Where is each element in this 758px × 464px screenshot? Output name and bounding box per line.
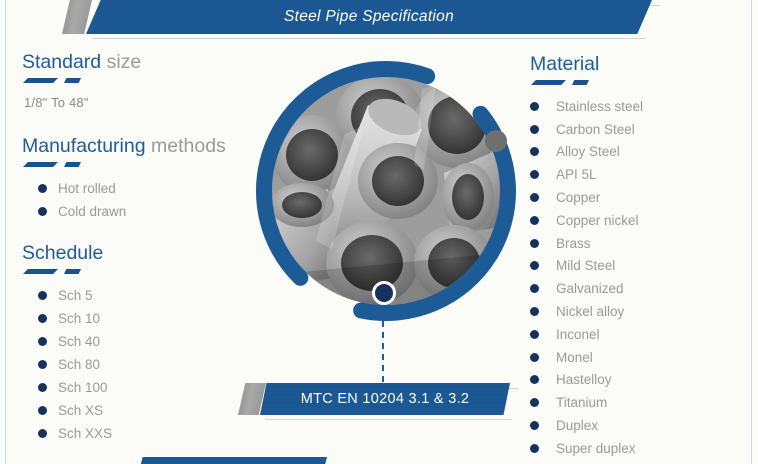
- list-item-label: Mild Steel: [556, 258, 615, 273]
- list-item: Nickel alloy: [530, 300, 745, 323]
- section-schedule: Schedule Sch 5 Sch 10 Sch 40 Sch 80 Sch …: [22, 241, 237, 445]
- list-item: Hastelloy: [530, 369, 745, 392]
- list-item-label: Sch 10: [58, 311, 100, 326]
- bullet-dot: [530, 147, 539, 156]
- list-item-label: Stainless steel: [556, 99, 643, 114]
- standard-size-value: 1/8" To 48": [24, 95, 237, 110]
- list-item: Copper: [530, 186, 745, 209]
- list-item-label: Sch 40: [58, 334, 100, 349]
- list-item: Super duplex: [530, 437, 745, 460]
- list-item: Galvanized: [530, 277, 745, 300]
- heading-underline-dashes: [23, 268, 237, 278]
- list-item-label: Brass: [556, 236, 591, 251]
- bullet-dot: [530, 444, 539, 453]
- list-item: Brass: [530, 232, 745, 255]
- bullet-dot: [530, 216, 539, 225]
- dashed-connector-line: [382, 310, 384, 385]
- list-item: Sch 5: [22, 284, 237, 307]
- mtc-callout-banner: MTC EN 10204 3.1 & 3.2: [238, 383, 520, 415]
- bullet-dot: [38, 291, 47, 300]
- list-item-label: Duplex: [556, 418, 598, 433]
- bullet-dot: [530, 307, 539, 316]
- section-heading: Manufacturing methods: [22, 134, 237, 159]
- bullet-dot: [530, 261, 539, 270]
- section-heading-strong: Material: [530, 53, 599, 75]
- heading-underline-dashes: [23, 161, 237, 171]
- section-heading-soft: size: [101, 51, 141, 73]
- page-rule-right: [751, 0, 752, 464]
- bullet-dot: [530, 353, 539, 362]
- list-item-label: Galvanized: [556, 281, 624, 296]
- list-item-label: Sch XS: [58, 403, 103, 418]
- bullet-dot: [38, 360, 47, 369]
- list-item: Sch 40: [22, 330, 237, 353]
- heading-underline-dashes: [531, 79, 745, 89]
- section-heading: Material: [530, 52, 745, 77]
- page-title: Steel Pipe Specification: [284, 8, 454, 26]
- list-item-label: Sch 100: [58, 380, 108, 395]
- bullet-dot: [530, 102, 539, 111]
- list-item: Duplex: [530, 414, 745, 437]
- list-item: Sch 80: [22, 353, 237, 376]
- list-item-label: Titanium: [556, 395, 607, 410]
- bullet-dot: [530, 330, 539, 339]
- list-item: Cold drawn: [22, 200, 237, 223]
- list-item-label: API 5L: [556, 167, 597, 182]
- list-item: API 5L: [530, 163, 745, 186]
- schedule-list: Sch 5 Sch 10 Sch 40 Sch 80 Sch 100 Sch X…: [22, 284, 237, 445]
- mtc-callout-label: MTC EN 10204 3.1 & 3.2: [301, 391, 470, 407]
- bullet-dot: [38, 337, 47, 346]
- bullet-dot: [530, 239, 539, 248]
- list-item-label: Super duplex: [556, 441, 636, 456]
- section-heading-soft: methods: [146, 135, 226, 157]
- list-item: Sch XS: [22, 399, 237, 422]
- list-item: Hot rolled: [22, 177, 237, 200]
- bottom-banner-partial: [135, 457, 327, 464]
- list-item: Monel: [530, 346, 745, 369]
- bullet-dot: [38, 429, 47, 438]
- list-item-label: Copper: [556, 190, 600, 205]
- list-item: Sch 10: [22, 307, 237, 330]
- bullet-dot: [530, 375, 539, 384]
- steel-pipes-photo: [272, 77, 500, 305]
- bullet-dot: [530, 284, 539, 293]
- section-heading-strong: Standard: [22, 51, 101, 73]
- mtc-banner-body: MTC EN 10204 3.1 & 3.2: [260, 383, 510, 415]
- bullet-dot: [38, 406, 47, 415]
- page-rule-left: [5, 0, 6, 464]
- manufacturing-methods-list: Hot rolled Cold drawn: [22, 177, 237, 223]
- section-manufacturing-methods: Manufacturing methods Hot rolled Cold dr…: [22, 134, 237, 223]
- list-item: Sch 100: [22, 376, 237, 399]
- list-item-label: Hot rolled: [58, 181, 116, 196]
- list-item-label: Sch 80: [58, 357, 100, 372]
- list-item-label: Hastelloy: [556, 372, 612, 387]
- center-graphic: [252, 57, 520, 325]
- bullet-dot: [530, 170, 539, 179]
- section-heading-strong: Manufacturing: [22, 135, 146, 157]
- section-heading-strong: Schedule: [22, 242, 103, 264]
- list-item: Copper nickel: [530, 209, 745, 232]
- bullet-dot: [38, 383, 47, 392]
- list-item: Carbon Steel: [530, 118, 745, 141]
- bullet-dot: [38, 314, 47, 323]
- title-banner: Steel Pipe Specification: [62, 0, 662, 34]
- heading-underline-dashes: [23, 77, 237, 87]
- bullet-dot: [530, 193, 539, 202]
- left-column: Standard size 1/8" To 48" Manufacturing …: [22, 50, 237, 449]
- list-item: Stainless steel: [530, 95, 745, 118]
- title-banner-gray-accent: [62, 0, 92, 34]
- bullet-dot: [38, 184, 47, 193]
- list-item: Inconel: [530, 323, 745, 346]
- bullet-dot: [530, 421, 539, 430]
- section-material: Material Stainless steel Carbon Steel Al…: [530, 52, 745, 460]
- bullet-dot: [38, 207, 47, 216]
- list-item: Alloy Steel: [530, 141, 745, 164]
- list-item: Titanium: [530, 391, 745, 414]
- bullet-dot: [530, 125, 539, 134]
- section-standard-size: Standard size 1/8" To 48": [22, 50, 237, 110]
- list-item-label: Sch 5: [58, 288, 93, 303]
- section-heading: Standard size: [22, 50, 237, 75]
- list-item-label: Nickel alloy: [556, 304, 624, 319]
- list-item: Sch XXS: [22, 422, 237, 445]
- right-column: Material Stainless steel Carbon Steel Al…: [530, 52, 745, 464]
- title-banner-body: Steel Pipe Specification: [86, 0, 652, 34]
- gray-accent-dot: [485, 130, 507, 152]
- list-item-label: Alloy Steel: [556, 144, 620, 159]
- material-list: Stainless steel Carbon Steel Alloy Steel…: [530, 95, 745, 460]
- list-item-label: Monel: [556, 350, 593, 365]
- list-item-label: Sch XXS: [58, 426, 112, 441]
- section-heading: Schedule: [22, 241, 237, 266]
- list-item-label: Copper nickel: [556, 213, 639, 228]
- list-item-label: Inconel: [556, 327, 600, 342]
- navy-anchor-dot: [372, 281, 396, 305]
- list-item-label: Cold drawn: [58, 204, 126, 219]
- bullet-dot: [530, 398, 539, 407]
- list-item-label: Carbon Steel: [556, 122, 635, 137]
- list-item: Mild Steel: [530, 255, 745, 278]
